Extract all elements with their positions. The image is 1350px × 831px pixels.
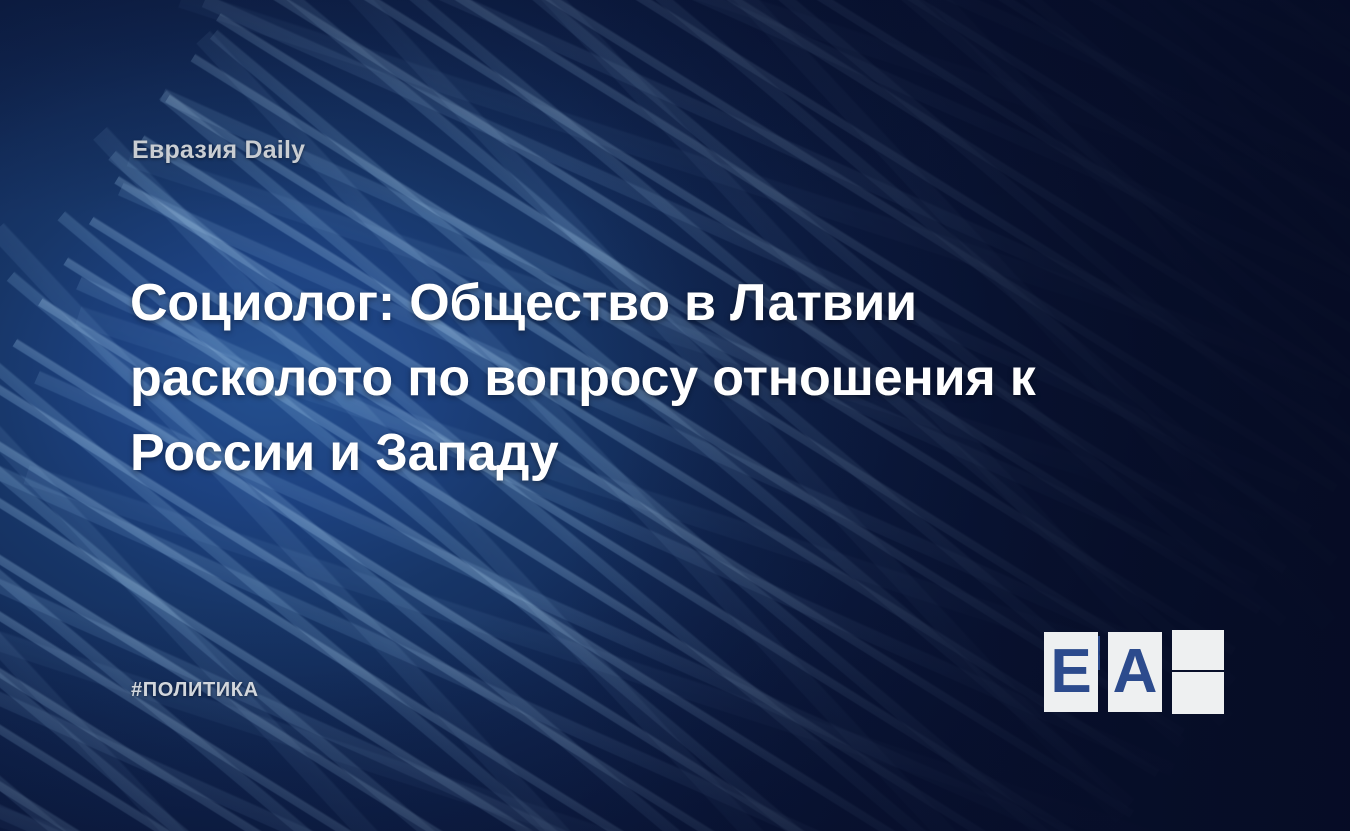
ead-logo[interactable]: E A: [1044, 630, 1224, 714]
category-hashtag[interactable]: #ПОЛИТИКА: [131, 679, 259, 702]
logo-tile-d-lower: [1172, 672, 1224, 714]
site-brand-name[interactable]: Евразия Daily: [132, 136, 305, 165]
article-cover-card: Евразия Daily Социолог: Общество в Латви…: [0, 0, 1350, 831]
logo-tile-d-upper: [1172, 630, 1224, 670]
cover-content: Евразия Daily Социолог: Общество в Латви…: [0, 0, 1350, 831]
article-headline: Социолог: Общество в Латвии расколото по…: [130, 266, 1080, 491]
logo-letter-e: E: [1044, 632, 1098, 712]
logo-letter-a: A: [1108, 632, 1162, 712]
